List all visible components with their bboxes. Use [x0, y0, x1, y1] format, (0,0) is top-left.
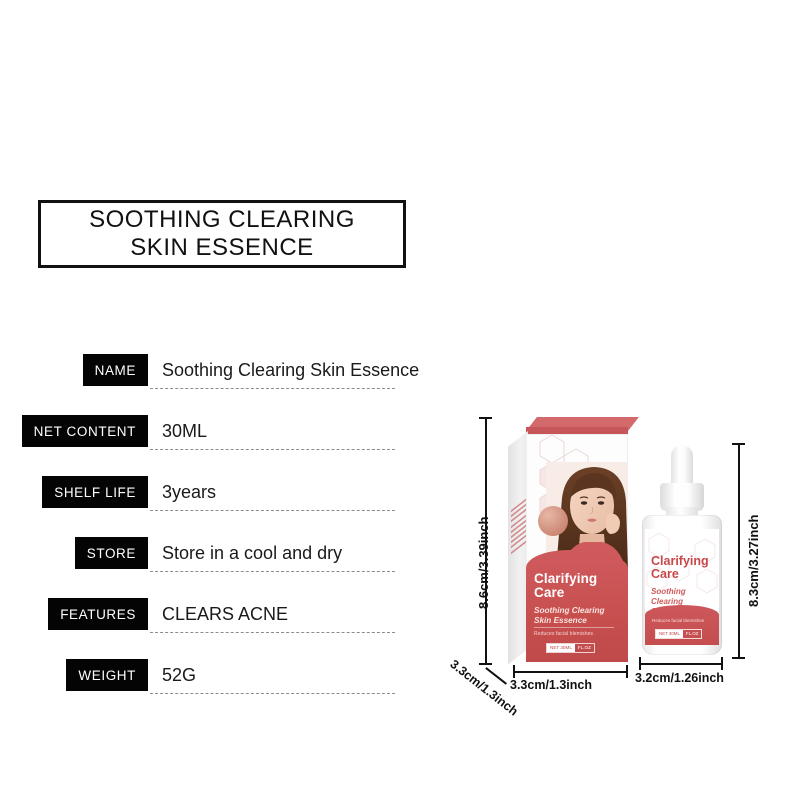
bottle-width-dimension-line	[639, 663, 722, 665]
carton-net-label: NET 30ML	[547, 644, 575, 652]
row-divider	[150, 693, 395, 694]
spec-label-store: STORE	[75, 537, 148, 569]
carton-width-dimension-label: 3.3cm/1.3inch	[510, 678, 592, 692]
table-row: SHELF LIFE 3years	[0, 470, 420, 531]
page-title-line-1: SOOTHING CLEARING	[89, 206, 355, 233]
carton-subtitle-line-1: Soothing Clearing	[534, 606, 605, 615]
spec-value-store: Store in a cool and dry	[162, 537, 342, 569]
page-title-box: SOOTHING CLEARING SKIN ESSENCE	[38, 200, 406, 268]
carton-net-unit: FL.OZ	[575, 644, 594, 652]
carton-height-cap-top	[479, 417, 492, 419]
bottle-width-cap-right	[721, 657, 723, 670]
table-row: NAME Soothing Clearing Skin Essence	[0, 348, 420, 409]
carton-height-dimension-label: 8.6cm/3.39inch	[476, 517, 491, 610]
row-divider	[150, 632, 395, 633]
bottle-brand-name: Clarifying Care	[651, 555, 709, 581]
spec-value-name: Soothing Clearing Skin Essence	[162, 354, 419, 386]
bottle-net-unit: FL.OZ	[683, 630, 701, 638]
page-title: SOOTHING CLEARING SKIN ESSENCE	[89, 206, 355, 263]
spec-value-features: CLEARS ACNE	[162, 598, 288, 630]
carton-width-cap-right	[626, 665, 628, 678]
product-carton: Clarifying Care Soothing Clearing Skin E…	[508, 417, 628, 662]
bottle-body: Clarifying Care Soothing Clearing Skin E…	[642, 515, 722, 655]
spec-value-net-content: 30ML	[162, 415, 207, 447]
page-title-line-2: SKIN ESSENCE	[130, 234, 313, 261]
carton-net-content-badge: NET 30ML FL.OZ	[546, 643, 595, 653]
row-divider	[150, 388, 395, 389]
product-image-group: Clarifying Care Soothing Clearing Skin E…	[450, 395, 800, 725]
spec-label-weight: WEIGHT	[66, 659, 148, 691]
spec-label-name: NAME	[83, 354, 148, 386]
bottle-subtitle-line-1: Soothing Clearing	[651, 587, 686, 606]
row-divider	[150, 571, 395, 572]
carton-tagline: Reduces facial blemishes	[534, 627, 614, 637]
row-divider	[150, 449, 395, 450]
bottle-height-dimension-line	[738, 443, 740, 658]
carton-side-ingredient-text	[511, 499, 526, 557]
carton-front-panel: Clarifying Care Soothing Clearing Skin E…	[526, 434, 628, 662]
bottle-brand-panel: Reduces facial blemishes NET 30ML FL.OZ	[645, 605, 719, 645]
bottle-brand-line-1: Clarifying	[651, 554, 709, 568]
spec-label-net-content: NET CONTENT	[22, 415, 148, 447]
table-row: NET CONTENT 30ML	[0, 409, 420, 470]
carton-brand-line-1: Clarifying	[534, 571, 597, 586]
product-bottle: Clarifying Care Soothing Clearing Skin E…	[632, 445, 732, 663]
carton-brand-name: Clarifying Care	[534, 572, 597, 600]
carton-subtitle: Soothing Clearing Skin Essence	[534, 606, 605, 626]
table-row: FEATURES CLEARS ACNE	[0, 592, 420, 653]
dropper-cap-top	[671, 445, 693, 487]
bottle-height-cap-bottom	[732, 657, 745, 659]
bottle-height-cap-top	[732, 443, 745, 445]
bottle-net-content-badge: NET 30ML FL.OZ	[655, 629, 702, 639]
bottle-height-dimension-label: 8.3cm/3.27inch	[746, 515, 761, 608]
spec-label-shelf-life: SHELF LIFE	[42, 476, 148, 508]
spec-value-shelf-life: 3years	[162, 476, 216, 508]
bottle-tagline: Reduces facial blemishes	[652, 618, 704, 623]
carton-height-cap-bottom	[479, 663, 492, 665]
table-row: STORE Store in a cool and dry	[0, 531, 420, 592]
spec-label-features: FEATURES	[48, 598, 148, 630]
bottle-brand-line-2: Care	[651, 567, 679, 581]
bottle-width-dimension-label: 3.2cm/1.26inch	[635, 671, 724, 685]
sponge-applicator-icon	[538, 506, 568, 536]
row-divider	[150, 510, 395, 511]
bottle-label: Clarifying Care Soothing Clearing Skin E…	[645, 529, 719, 645]
spec-value-weight: 52G	[162, 659, 196, 691]
specification-table: NAME Soothing Clearing Skin Essence NET …	[0, 348, 420, 714]
carton-brand-line-2: Care	[534, 585, 564, 600]
bottle-width-cap-left	[639, 657, 641, 670]
bottle-net-label: NET 30ML	[656, 630, 683, 638]
carton-width-dimension-line	[513, 671, 627, 673]
carton-width-cap-left	[513, 665, 515, 678]
carton-subtitle-line-2: Skin Essence	[534, 616, 587, 625]
table-row: WEIGHT 52G	[0, 653, 420, 714]
carton-side-panel	[508, 431, 528, 665]
carton-brand-panel: Clarifying Care Soothing Clearing Skin E…	[526, 550, 628, 662]
